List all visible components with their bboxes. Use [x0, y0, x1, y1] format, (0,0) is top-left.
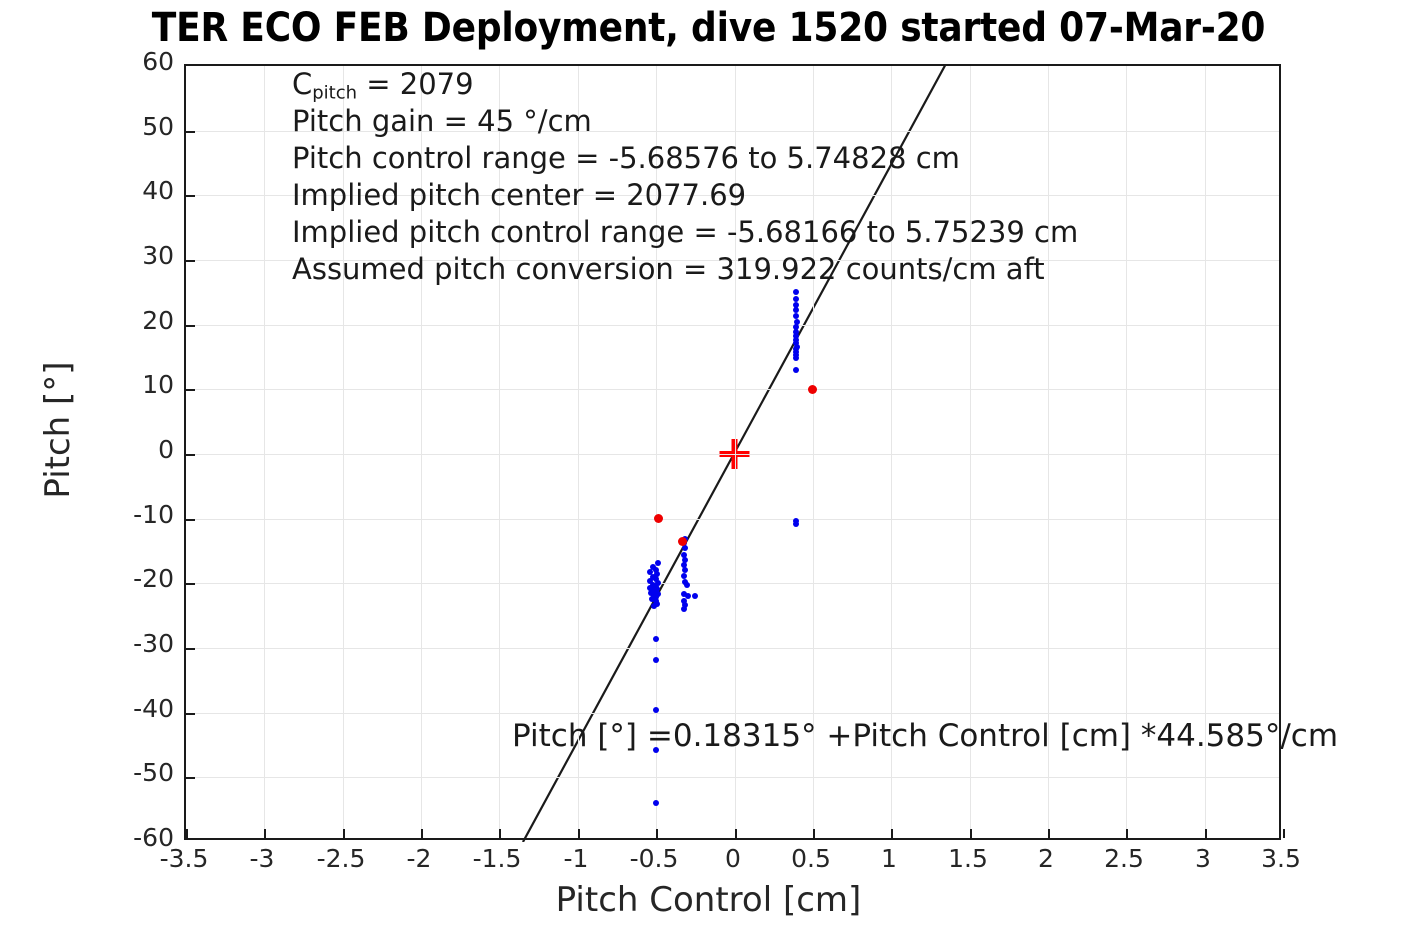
- annotation-cpitch-subscript: pitch: [312, 83, 357, 104]
- data-point: [684, 582, 690, 588]
- annotation-line-pitch-gain: Pitch gain = 45 °/cm: [292, 103, 1192, 140]
- y-tick: [186, 260, 195, 262]
- x-tick: [1048, 829, 1050, 838]
- y-tick: [186, 583, 195, 585]
- annotation-line-pitch-control-range: Pitch control range = -5.68576 to 5.7482…: [292, 140, 1192, 177]
- y-tick: [186, 131, 195, 133]
- y-gridline: [186, 648, 1279, 649]
- data-point: [692, 593, 698, 599]
- x-tick: [186, 829, 188, 838]
- data-point: [793, 296, 799, 302]
- x-tick: [656, 829, 658, 838]
- x-tick: [578, 829, 580, 838]
- x-tick-label: -3: [217, 844, 307, 873]
- annotation-cpitch-prefix: C: [292, 67, 312, 101]
- annotation-line-cpitch: Cpitch = 2079: [292, 66, 1192, 103]
- y-tick-label: 40: [104, 176, 174, 205]
- annotation-line-pitch-conversion: Assumed pitch conversion = 319.922 count…: [292, 251, 1192, 288]
- page-title: TER ECO FEB Deployment, dive 1520 starte…: [0, 2, 1417, 54]
- x-tick: [735, 829, 737, 838]
- y-tick: [186, 777, 195, 779]
- annotation-block: Cpitch = 2079 Pitch gain = 45 °/cm Pitch…: [292, 66, 1192, 288]
- annotation-line-implied-control-range: Implied pitch control range = -5.68166 t…: [292, 214, 1192, 251]
- x-tick-label: -1.5: [452, 844, 542, 873]
- x-tick-label: -2: [374, 844, 464, 873]
- y-tick-label: 10: [104, 370, 174, 399]
- y-tick: [186, 713, 195, 715]
- data-point: [681, 606, 687, 612]
- y-gridline: [186, 519, 1279, 520]
- y-tick: [186, 648, 195, 650]
- data-point: [808, 385, 817, 394]
- y-gridline: [186, 583, 1279, 584]
- x-tick-label: 0.5: [766, 844, 856, 873]
- data-point: [651, 603, 657, 609]
- y-tick: [186, 454, 195, 456]
- fit-equation-label: Pitch [°] =0.18315° +Pitch Control [cm] …: [512, 718, 1338, 754]
- y-tick-label: 30: [104, 241, 174, 270]
- x-tick: [343, 829, 345, 838]
- y-gridline: [186, 713, 1279, 714]
- x-tick-label: 1.5: [923, 844, 1013, 873]
- y-tick: [186, 195, 195, 197]
- data-point: [793, 521, 799, 527]
- annotation-line-implied-pitch-center: Implied pitch center = 2077.69: [292, 177, 1192, 214]
- y-tick: [186, 389, 195, 391]
- data-point: [793, 289, 799, 295]
- y-tick-label: -60: [104, 823, 174, 852]
- y-tick-label: -20: [104, 564, 174, 593]
- data-point: [654, 514, 663, 523]
- y-tick-label: -50: [104, 758, 174, 787]
- x-tick-label: -0.5: [609, 844, 699, 873]
- x-tick-label: 3: [1158, 844, 1248, 873]
- data-point: [653, 636, 659, 642]
- y-gridline: [186, 325, 1279, 326]
- x-tick: [264, 829, 266, 838]
- x-axis-title: Pitch Control [cm]: [0, 880, 1417, 920]
- x-tick-label: 3.5: [1236, 844, 1326, 873]
- y-tick: [186, 325, 195, 327]
- x-tick: [1126, 829, 1128, 838]
- y-axis-title: Pitch [°]: [38, 310, 78, 550]
- x-tick-label: 2: [1001, 844, 1091, 873]
- y-tick-label: 50: [104, 112, 174, 141]
- x-tick: [421, 829, 423, 838]
- x-tick: [970, 829, 972, 838]
- x-tick-label: -2.5: [296, 844, 386, 873]
- x-tick-label: -1: [531, 844, 621, 873]
- data-point: [653, 657, 659, 663]
- x-gridline: [264, 66, 265, 838]
- x-tick: [1205, 829, 1207, 838]
- x-tick: [1283, 829, 1285, 838]
- x-tick: [891, 829, 893, 838]
- x-tick-label: 2.5: [1079, 844, 1169, 873]
- data-point: [682, 545, 688, 551]
- y-gridline: [186, 389, 1279, 390]
- data-point: [653, 800, 659, 806]
- y-tick-label: 20: [104, 306, 174, 335]
- y-tick-label: -30: [104, 629, 174, 658]
- x-tick: [813, 829, 815, 838]
- y-gridline: [186, 454, 1279, 455]
- annotation-cpitch-value: = 2079: [357, 67, 474, 101]
- x-tick-label: 1: [844, 844, 934, 873]
- y-tick: [186, 519, 195, 521]
- y-gridline: [186, 777, 1279, 778]
- y-tick-label: -10: [104, 500, 174, 529]
- y-tick-label: -40: [104, 694, 174, 723]
- y-tick-label: 60: [104, 47, 174, 76]
- data-point: [793, 355, 799, 361]
- y-tick-label: 0: [104, 435, 174, 464]
- x-tick: [499, 829, 501, 838]
- data-point: [793, 367, 799, 373]
- x-tick-label: 0: [688, 844, 778, 873]
